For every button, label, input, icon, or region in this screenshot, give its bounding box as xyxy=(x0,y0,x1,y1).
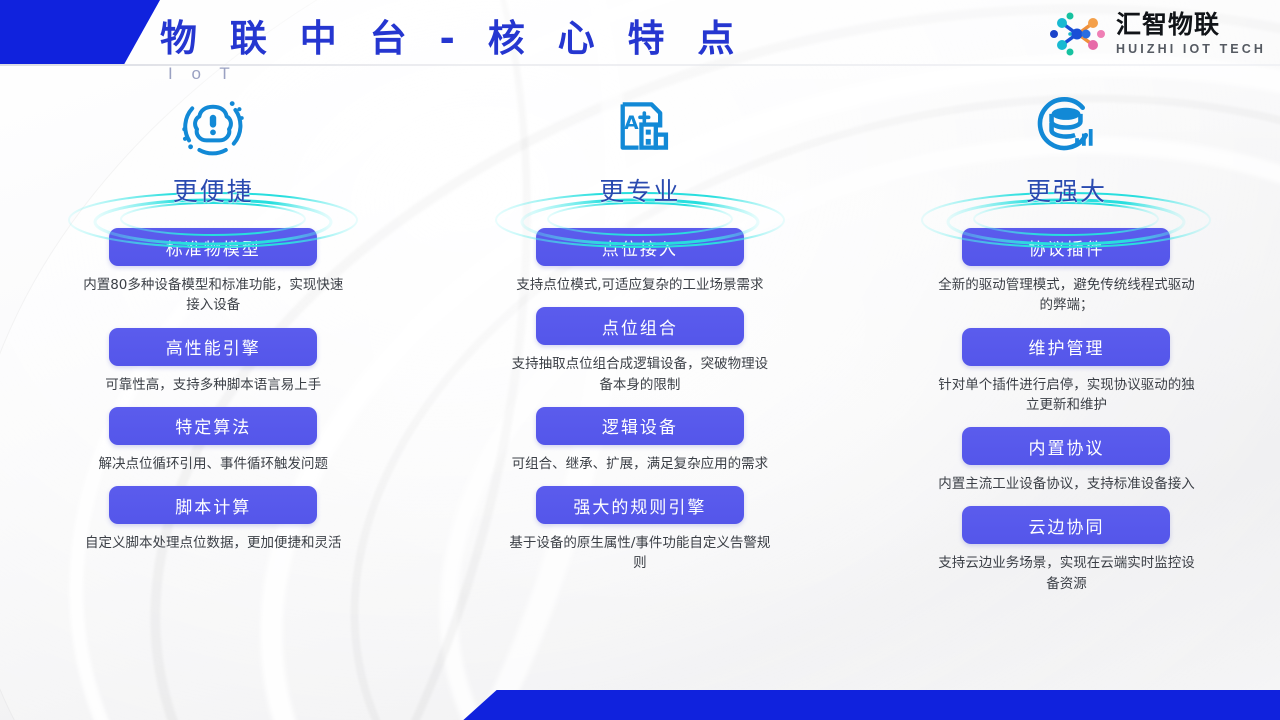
feature-pill[interactable]: 点位组合 xyxy=(536,307,744,345)
feature-desc: 可靠性高，支持多种脚本语言易上手 xyxy=(79,375,347,395)
brand-logo: 汇智物联 HUIZHI IOT TECH xyxy=(1047,12,1266,56)
feature-pill[interactable]: 云边协同 xyxy=(962,506,1170,544)
feature-item: 点位组合 支持抽取点位组合成逻辑设备，突破物理设备本身的限制 xyxy=(427,307,854,395)
feature-desc: 内置80多种设备模型和标准功能，实现快速接入设备 xyxy=(79,275,347,316)
feature-desc: 全新的驱动管理模式，避免传统线程式驱动的弊端； xyxy=(932,275,1200,316)
feature-desc: 针对单个插件进行启停，实现协议驱动的独立更新和维护 xyxy=(932,375,1200,416)
feature-desc: 解决点位循环引用、事件循环触发问题 xyxy=(79,454,347,474)
header-accent-shape xyxy=(0,0,160,64)
feature-desc: 支持云边业务场景，实现在云端实时监控设备资源 xyxy=(932,553,1200,594)
feature-item: 标准物模型 内置80多种设备模型和标准功能，实现快速接入设备 xyxy=(0,228,427,316)
feature-item: 协议插件 全新的驱动管理模式，避免传统线程式驱动的弊端； xyxy=(853,228,1280,316)
feature-desc: 可组合、继承、扩展，满足复杂应用的需求 xyxy=(506,454,774,474)
column-title: 更专业 xyxy=(599,172,680,208)
feature-item: 高性能引擎 可靠性高，支持多种脚本语言易上手 xyxy=(0,328,427,395)
feature-column-2: A 更专业 点位接入 支持点位模式,可适应 xyxy=(427,86,854,606)
feature-item: 云边协同 支持云边业务场景，实现在云端实时监控设备资源 xyxy=(853,506,1280,594)
feature-item: 维护管理 针对单个插件进行启停，实现协议驱动的独立更新和维护 xyxy=(853,328,1280,416)
feature-item: 点位接入 支持点位模式,可适应复杂的工业场景需求 xyxy=(427,228,854,295)
feature-pill[interactable]: 内置协议 xyxy=(962,427,1170,465)
molecule-network-icon xyxy=(1047,12,1107,56)
feature-pill[interactable]: 特定算法 xyxy=(109,407,317,445)
feature-column-3: 更强大 协议插件 全新的驱动管理模式，避免传统线程式驱动的弊端； 维护管理 针对… xyxy=(853,86,1280,606)
feature-pill[interactable]: 强大的规则引擎 xyxy=(536,486,744,524)
feature-pill[interactable]: 维护管理 xyxy=(962,328,1170,366)
brain-gear-icon xyxy=(173,86,253,166)
feature-item: 内置协议 内置主流工业设备协议，支持标准设备接入 xyxy=(853,427,1280,494)
document-a-plus-building-icon: A xyxy=(604,86,676,166)
feature-item-list: 协议插件 全新的驱动管理模式，避免传统线程式驱动的弊端； 维护管理 针对单个插件… xyxy=(853,228,1280,606)
slide-canvas: 物 联 中 台 - 核 心 特 点 I o T xyxy=(0,0,1280,720)
column-title: 更强大 xyxy=(1026,172,1107,208)
page-title: 物 联 中 台 - 核 心 特 点 xyxy=(160,8,744,62)
feature-desc: 基于设备的原生属性/事件功能自定义告警规则 xyxy=(506,533,774,574)
database-chart-icon xyxy=(1028,86,1104,166)
feature-pill[interactable]: 脚本计算 xyxy=(109,486,317,524)
feature-item-list: 标准物模型 内置80多种设备模型和标准功能，实现快速接入设备 高性能引擎 可靠性… xyxy=(0,228,427,565)
feature-desc: 自定义脚本处理点位数据，更加便捷和灵活 xyxy=(79,533,347,553)
svg-text:A: A xyxy=(624,113,639,134)
feature-pill[interactable]: 协议插件 xyxy=(962,228,1170,266)
logo-name-cn: 汇智物联 xyxy=(1116,12,1266,37)
feature-item-list: 点位接入 支持点位模式,可适应复杂的工业场景需求 点位组合 支持抽取点位组合成逻… xyxy=(427,228,854,586)
column-title: 更便捷 xyxy=(173,172,254,208)
feature-item: 强大的规则引擎 基于设备的原生属性/事件功能自定义告警规则 xyxy=(427,486,854,574)
feature-pill[interactable]: 逻辑设备 xyxy=(536,407,744,445)
feature-pill[interactable]: 点位接入 xyxy=(536,228,744,266)
page-subtitle: I o T xyxy=(168,64,237,84)
feature-item: 脚本计算 自定义脚本处理点位数据，更加便捷和灵活 xyxy=(0,486,427,553)
feature-item: 逻辑设备 可组合、继承、扩展，满足复杂应用的需求 xyxy=(427,407,854,474)
feature-pill[interactable]: 标准物模型 xyxy=(109,228,317,266)
feature-columns: 更便捷 xyxy=(0,86,1280,606)
feature-pill[interactable]: 高性能引擎 xyxy=(109,328,317,366)
feature-desc: 内置主流工业设备协议，支持标准设备接入 xyxy=(932,474,1200,494)
feature-desc: 支持点位模式,可适应复杂的工业场景需求 xyxy=(506,275,774,295)
feature-item: 特定算法 解决点位循环引用、事件循环触发问题 xyxy=(0,407,427,474)
feature-desc: 支持抽取点位组合成逻辑设备，突破物理设备本身的限制 xyxy=(506,354,774,395)
footer-accent-shape xyxy=(0,690,1280,720)
logo-name-en: HUIZHI IOT TECH xyxy=(1116,43,1266,56)
feature-column-1: 更便捷 xyxy=(0,86,427,606)
